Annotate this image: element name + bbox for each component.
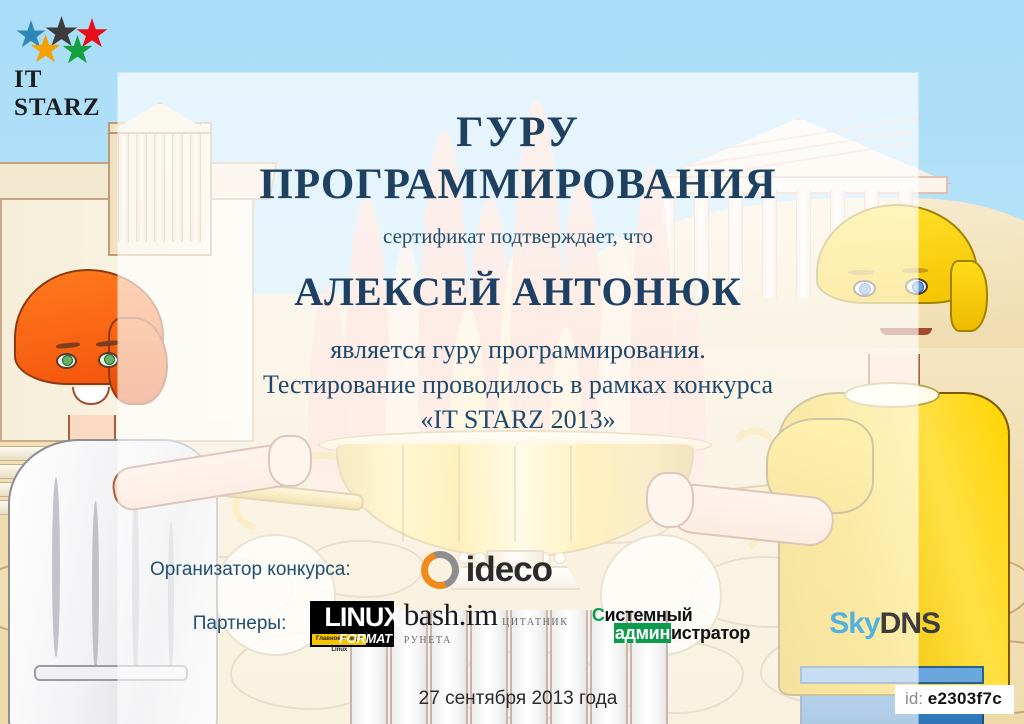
ideco-wordmark: ideco <box>466 550 552 590</box>
certificate-content: IT STARZ ГУРУ ПРОГРАММИРОВАНИЯ сертифика… <box>0 0 1024 724</box>
certificate-subtitle: сертификат подтверждает, что <box>118 224 918 249</box>
certificate-canvas: IT STARZ ГУРУ ПРОГРАММИРОВАНИЯ сертифика… <box>0 0 1024 724</box>
bash-im-wordmark: bash.im <box>404 597 498 632</box>
id-badge: id: e2303f7c <box>895 685 1014 714</box>
it-starz-logo: IT STARZ <box>14 16 124 122</box>
partners-row: Партнеры: LINUX Главное в мире Linux FOR… <box>150 598 940 650</box>
certificate-title-line1: ГУРУ <box>118 108 918 157</box>
recipient-name: АЛЕКСЕЙ АНТОНЮК <box>118 268 918 315</box>
sysadm-row2-a: админ <box>614 623 671 643</box>
sysadm-row1: Системный <box>592 605 693 625</box>
sysadm-row2: администратор <box>592 623 750 643</box>
skydns-logo: SkyDNS <box>829 607 940 641</box>
sysadm-row2-b: истратор <box>671 623 750 643</box>
certificate-body-line1: является гуру программирования. <box>118 335 918 365</box>
organizer-row: Организатор конкурса: ideco <box>150 548 770 592</box>
id-value: e2303f7c <box>928 689 1002 708</box>
ideco-logo: ideco <box>421 550 552 590</box>
certificate-body-line3: «IT STARZ 2013» <box>118 405 918 435</box>
certificate-body-line2: Тестирование проводилось в рамках конкур… <box>118 370 918 400</box>
bash-im-logo: bash.im ЦИТАТНИК РУНЕТА <box>404 600 578 648</box>
linux-format-line1: LINUX <box>314 603 410 631</box>
sysadm-row1-a: С <box>592 605 605 625</box>
organizer-label: Организатор конкурса: <box>150 559 351 581</box>
logo-wordmark: IT STARZ <box>14 66 124 122</box>
sistemny-administrator-logo: Системный администратор <box>592 606 803 642</box>
certificate-title-line2: ПРОГРАММИРОВАНИЯ <box>118 160 918 209</box>
ideco-swirl-icon <box>421 551 459 589</box>
skydns-part1: Sky <box>829 607 879 640</box>
partners-label: Партнеры: <box>150 613 286 635</box>
logo-stars <box>14 16 110 64</box>
skydns-part2: DNS <box>880 607 940 640</box>
sysadm-row1-b: истемный <box>605 605 693 625</box>
id-label: id: <box>905 689 923 708</box>
star-dark <box>45 16 78 49</box>
linux-format-logo: LINUX Главное в мире Linux FORMAT <box>310 601 393 647</box>
linux-format-line2: FORMAT <box>339 631 392 646</box>
certificate-date: 27 сентября 2013 года <box>118 688 918 710</box>
